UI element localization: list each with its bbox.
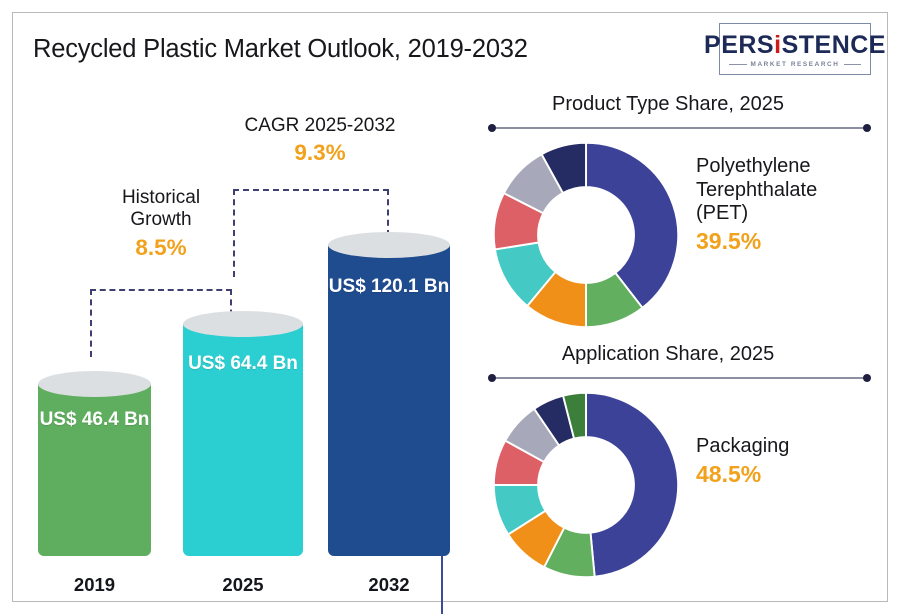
product-type-legend-name: Polyethylene Terephthalate (PET) <box>696 155 900 226</box>
logo-rule-left <box>729 64 747 65</box>
bar-2019-top <box>38 371 151 397</box>
bar-2025-value: US$ 64.4 Bn <box>183 353 303 374</box>
logo-rule-right <box>844 64 862 65</box>
cagr-label: CAGR 2025-2032 <box>225 115 415 137</box>
infographic-root: Recycled Plastic Market Outlook, 2019-20… <box>0 0 900 614</box>
bar-2025-value-text: US$ 64.4 Bn <box>188 353 298 374</box>
logo-subtitle-row: MARKET RESEARCH <box>729 61 861 68</box>
application-share-donut <box>490 389 682 581</box>
historical-growth-value: 8.5% <box>91 235 231 261</box>
product-legend-line2: Terephthalate <box>696 179 817 201</box>
application-share-legend: Packaging 48.5% <box>696 435 900 488</box>
page-title: Recycled Plastic Market Outlook, 2019-20… <box>33 35 528 64</box>
cagr-annotation: CAGR 2025-2032 9.3% <box>225 115 415 166</box>
logo-word-after: STENCE <box>782 31 886 59</box>
logo-wordmark: PERSiSTENCE <box>704 33 886 58</box>
logo-word-before: PERS <box>704 31 774 59</box>
historical-growth-label-line2: Growth <box>130 209 191 230</box>
product-type-share-divider <box>492 127 867 129</box>
bar-2019: US$ 46.4 Bn 2019 <box>38 371 151 556</box>
x-tick-2025: 2025 <box>183 574 303 596</box>
historical-growth-label-line1: Historical <box>122 187 200 208</box>
bar-2032-value-text: US$ 120.1 Bn <box>329 276 449 297</box>
x-tick-2032: 2032 <box>328 574 450 596</box>
product-legend-line3: (PET) <box>696 202 748 224</box>
product-type-legend-value: 39.5% <box>696 228 900 255</box>
infographic-card: Recycled Plastic Market Outlook, 2019-20… <box>12 12 888 602</box>
logo-subtitle: MARKET RESEARCH <box>751 61 840 68</box>
product-legend-line1: Polyethylene <box>696 155 811 177</box>
product-type-share-donut <box>490 139 682 331</box>
historical-growth-annotation: Historical Growth 8.5% <box>91 187 231 261</box>
bar-2025-top <box>183 311 303 337</box>
bar-2019-value: US$ 46.4 Bn <box>38 409 151 430</box>
bar-2032-value: US$ 120.1 Bn <box>328 276 450 297</box>
bar-chart: Historical Growth 8.5% CAGR 2025-2032 9.… <box>13 79 453 603</box>
bar-2032: US$ 120.1 Bn 2032 <box>328 232 450 556</box>
persistence-logo: PERSiSTENCE MARKET RESEARCH <box>719 23 871 75</box>
bar-2019-value-text: US$ 46.4 Bn <box>40 409 150 430</box>
product-type-share-legend: Polyethylene Terephthalate (PET) 39.5% <box>696 155 900 255</box>
application-legend-value: 48.5% <box>696 461 900 488</box>
application-legend-name: Packaging <box>696 435 900 459</box>
historical-growth-label: Historical Growth <box>91 187 231 232</box>
application-share-heading: Application Share, 2025 <box>468 343 868 366</box>
product-type-share-panel: Product Type Share, 2025 Polyethylene Te… <box>468 93 900 343</box>
bar-2032-top <box>328 232 450 258</box>
bar-2025: US$ 64.4 Bn 2025 <box>183 311 303 556</box>
x-tick-2019: 2019 <box>38 574 151 596</box>
application-share-divider <box>492 377 867 379</box>
product-type-share-heading: Product Type Share, 2025 <box>468 93 868 116</box>
logo-word-i: i <box>774 31 781 59</box>
cagr-value: 9.3% <box>225 140 415 166</box>
donut-slice <box>586 393 678 577</box>
application-share-panel: Application Share, 2025 Packaging 48.5% <box>468 343 900 598</box>
